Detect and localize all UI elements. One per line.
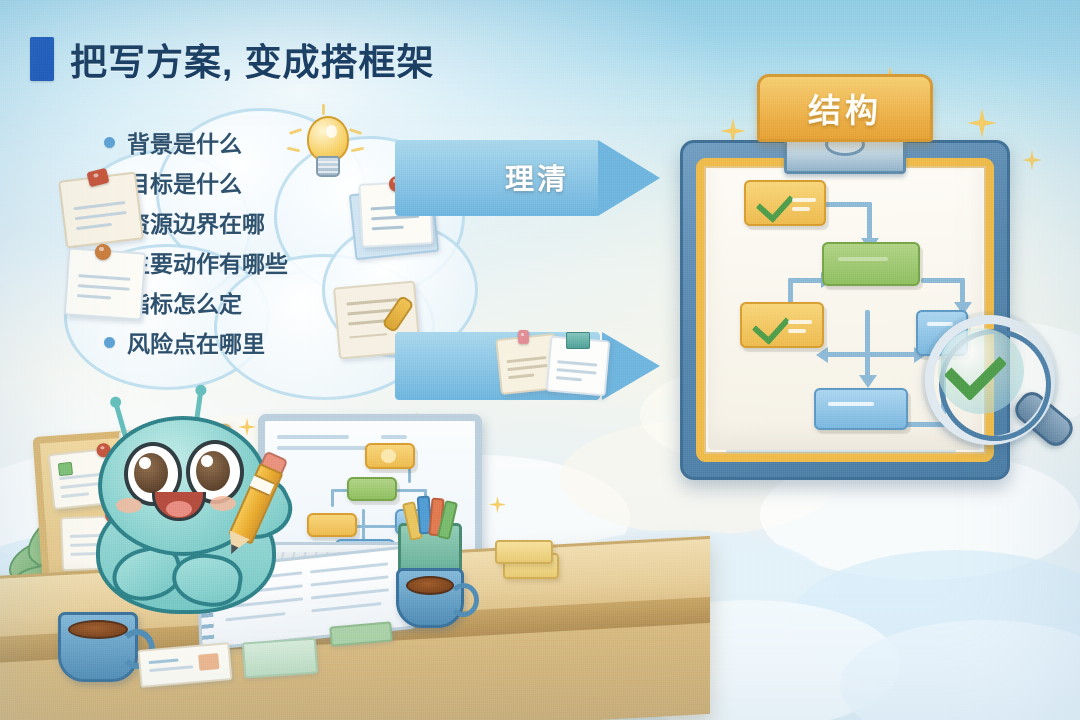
desk-card bbox=[138, 642, 233, 688]
title-mark-icon bbox=[30, 37, 54, 81]
sparkle-icon bbox=[967, 108, 997, 138]
coffee-mug-icon bbox=[396, 568, 464, 628]
banner-label: 结构 bbox=[808, 84, 882, 132]
sparkle-icon bbox=[1022, 150, 1042, 170]
arrowhead-icon bbox=[859, 375, 877, 388]
arrow-top-label: 理清 bbox=[505, 156, 569, 198]
flow-node-main[interactable] bbox=[822, 242, 920, 286]
list-item-label: 资源边界在哪 bbox=[127, 205, 265, 239]
flow-node-task[interactable] bbox=[740, 302, 824, 348]
sticker-icon bbox=[566, 332, 590, 349]
list-item-label: 背景是什么 bbox=[127, 125, 242, 159]
flow-node-task bbox=[307, 513, 357, 537]
sparkle-icon bbox=[489, 496, 506, 513]
page-title: 把写方案, 变成搭框架 bbox=[30, 32, 435, 86]
list-item-label: 指标怎么定 bbox=[127, 285, 242, 319]
coffee-mug-icon[interactable] bbox=[58, 612, 138, 682]
lightbulb-icon bbox=[303, 116, 349, 178]
flow-connector bbox=[921, 278, 965, 283]
illustration-canvas: 把写方案, 变成搭框架 背景是什么 目标是什么 资源边界在哪 主要动作有哪 bbox=[0, 0, 1080, 720]
clip-icon bbox=[518, 330, 529, 344]
arrowhead-icon bbox=[816, 347, 828, 363]
title-text: 把写方案, 变成搭框架 bbox=[70, 32, 435, 86]
structure-banner: 结构 bbox=[757, 74, 933, 142]
flow-connector bbox=[865, 310, 870, 380]
flow-node-task bbox=[365, 443, 415, 469]
sticky-note-icon bbox=[495, 540, 553, 564]
flow-connector bbox=[820, 202, 872, 207]
flow-connector bbox=[867, 202, 872, 242]
list-item-label: 风险点在哪里 bbox=[127, 325, 265, 359]
sheet-baseline bbox=[726, 450, 956, 453]
shrimp-mascot bbox=[60, 398, 310, 618]
review-magnifier[interactable] bbox=[925, 315, 1065, 465]
flow-node-output[interactable] bbox=[814, 388, 908, 430]
desk-card bbox=[242, 637, 318, 678]
flow-node-task[interactable] bbox=[744, 180, 826, 226]
mascot-cheek-right bbox=[210, 496, 236, 511]
flow-connector bbox=[826, 352, 916, 357]
list-item-label: 目标是什么 bbox=[127, 165, 242, 199]
bullet-dot-icon bbox=[104, 337, 115, 348]
pin-icon bbox=[95, 244, 111, 260]
list-item: 背景是什么 bbox=[104, 122, 434, 162]
mascot-cheek-left bbox=[116, 498, 142, 513]
list-item-label: 主要动作有哪些 bbox=[127, 245, 288, 279]
flow-node-main bbox=[347, 477, 397, 501]
bullet-dot-icon bbox=[104, 137, 115, 148]
